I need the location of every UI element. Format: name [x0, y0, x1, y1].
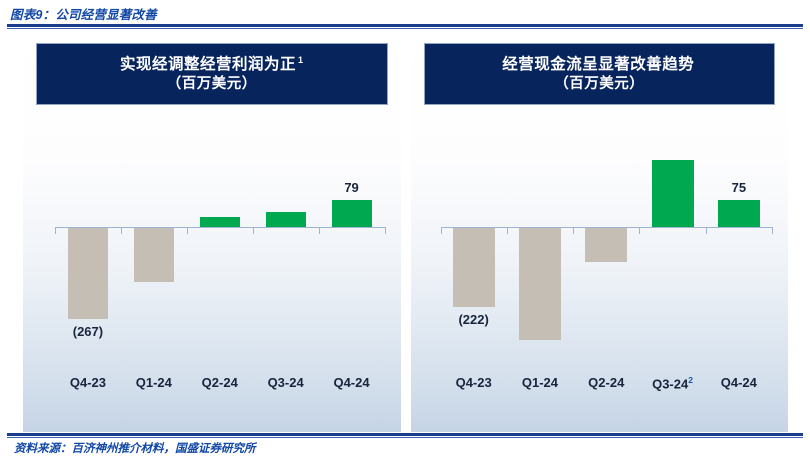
panel-adjusted-operating-profit: 实现经调整经营利润为正1 （百万美元） (267)Q4-23Q1-24Q2-24… — [23, 33, 401, 432]
value-label-q4-24: 79 — [317, 180, 387, 195]
category-label-text: Q3-24 — [652, 376, 688, 391]
figure-page: 图表9：公司经营显著改善 实现经调整经营利润为正1 （百万美元） (267)Q4… — [0, 0, 810, 460]
bar-q3-24 — [652, 160, 694, 227]
axis-tick — [639, 227, 640, 234]
category-label-text: Q2-24 — [202, 375, 238, 390]
bar-q4-24 — [332, 200, 372, 227]
plot-area-right: (222)Q4-23Q1-24Q2-24Q3-24275Q4-24 — [411, 33, 789, 432]
category-label-q4-24: Q4-24 — [319, 375, 385, 390]
bar-q1-24 — [519, 228, 561, 340]
axis-tick — [253, 227, 254, 234]
panel-operating-cash-flow: 经营现金流呈显著改善趋势 （百万美元） (222)Q4-23Q1-24Q2-24… — [411, 33, 789, 432]
category-label-text: Q4-23 — [456, 375, 492, 390]
category-label-q1-24: Q1-24 — [507, 375, 573, 390]
axis-tick — [319, 227, 320, 234]
bar-q4-23 — [453, 228, 495, 307]
footer-divider-thin — [7, 437, 803, 438]
axis-tick — [121, 227, 122, 234]
category-label-q4-23: Q4-23 — [441, 375, 507, 390]
plot-area-left: (267)Q4-23Q1-24Q2-24Q3-2479Q4-24 — [23, 33, 401, 432]
category-label-text: Q3-24 — [268, 375, 304, 390]
category-label-q3-24: Q3-242 — [639, 375, 705, 391]
title-divider-thin — [7, 28, 803, 29]
category-label-q2-24: Q2-24 — [187, 375, 253, 390]
value-label-q4-23: (222) — [438, 312, 510, 327]
bar-q4-23 — [68, 228, 108, 319]
axis-tick — [772, 227, 773, 234]
bar-q1-24 — [134, 228, 174, 282]
category-label-text: Q1-24 — [522, 375, 558, 390]
axis-tick — [385, 227, 386, 234]
value-label-q4-23: (267) — [53, 324, 123, 339]
axis-tick — [187, 227, 188, 234]
category-label-text: Q4-23 — [70, 375, 106, 390]
category-label-q4-23: Q4-23 — [55, 375, 121, 390]
title-divider-thick — [7, 24, 803, 27]
category-label-q2-24: Q2-24 — [573, 375, 639, 390]
chart-panels: 实现经调整经营利润为正1 （百万美元） (267)Q4-23Q1-24Q2-24… — [23, 33, 788, 432]
figure-title: 图表9：公司经营显著改善 — [10, 4, 157, 23]
bar-q3-24 — [266, 212, 306, 227]
category-label-q3-24: Q3-24 — [253, 375, 319, 390]
category-label-text: Q1-24 — [136, 375, 172, 390]
bar-q2-24 — [585, 228, 627, 262]
axis-tick — [441, 227, 442, 234]
axis-tick — [706, 227, 707, 234]
bar-q4-24 — [718, 200, 760, 227]
axis-tick — [55, 227, 56, 234]
category-label-text: Q2-24 — [588, 375, 624, 390]
category-label-q1-24: Q1-24 — [121, 375, 187, 390]
category-label-q4-24: Q4-24 — [706, 375, 772, 390]
bar-q2-24 — [200, 217, 240, 227]
category-label-text: Q4-24 — [333, 375, 369, 390]
axis-tick — [507, 227, 508, 234]
category-label-text: Q4-24 — [721, 375, 757, 390]
category-footnote-marker: 2 — [688, 375, 693, 385]
axis-tick — [573, 227, 574, 234]
value-label-q4-24: 75 — [703, 180, 775, 195]
figure-source: 资料来源：百济神州推介材料，国盛证券研究所 — [14, 440, 256, 456]
footer-divider-thick — [7, 433, 803, 436]
